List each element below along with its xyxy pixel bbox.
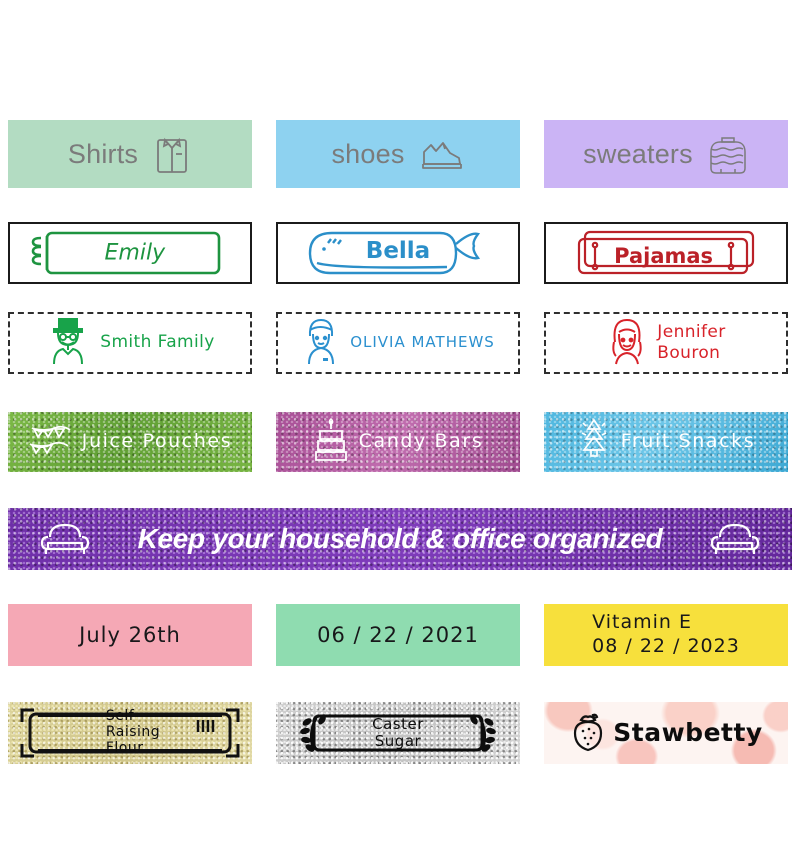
label-text: OLIVIA MATHEWS xyxy=(350,335,495,351)
row-category-labels: Shirts shoes xyxy=(0,120,800,188)
label-text: sweaters xyxy=(583,140,693,168)
label-candy-bars[interactable]: Candy Bars xyxy=(276,412,520,472)
label-text: Bella xyxy=(366,239,430,263)
label-text: Shirts xyxy=(68,140,138,168)
label-juice-pouches[interactable]: Juice Pouches xyxy=(8,412,252,472)
label-shirts[interactable]: Shirts xyxy=(8,120,252,188)
label-emily[interactable]: Emily xyxy=(8,222,252,284)
label-text: July 26th xyxy=(79,624,181,646)
label-vitamin-e[interactable]: Vitamin E 08 / 22 / 2023 xyxy=(544,604,788,666)
label-olivia-mathews[interactable]: OLIVIA MATHEWS xyxy=(276,312,520,374)
label-text: Fruit Snacks xyxy=(621,432,755,452)
sneaker-icon xyxy=(419,134,465,174)
label-fruit-snacks[interactable]: Fruit Snacks xyxy=(544,412,788,472)
label-card[interactable]: Emily xyxy=(8,222,252,284)
label-text: Juice Pouches xyxy=(82,432,232,452)
label-text: shoes xyxy=(331,140,404,168)
label-text: Jennifer Bouron xyxy=(657,322,725,365)
label-card[interactable]: Stawbetty xyxy=(544,702,788,764)
row-outline-frame-labels: Emily Bella xyxy=(0,222,800,284)
label-card[interactable]: Vitamin E 08 / 22 / 2023 xyxy=(544,604,788,666)
label-text: Smith Family xyxy=(100,334,214,352)
gentleman-tophat-icon xyxy=(45,316,91,371)
label-sheet: Shirts shoes xyxy=(0,0,800,849)
label-bella[interactable]: Bella xyxy=(276,222,520,284)
label-card[interactable]: Keep your household & office organized xyxy=(8,508,792,570)
label-card[interactable]: 06 / 22 / 2021 xyxy=(276,604,520,666)
row-glitter-labels: Juice Pouches xyxy=(0,412,800,472)
label-july-26th[interactable]: July 26th xyxy=(8,604,252,666)
label-shoes[interactable]: shoes xyxy=(276,120,520,188)
woman-headband-icon xyxy=(301,316,341,371)
label-card[interactable]: shoes xyxy=(276,120,520,188)
banner-text: Keep your household & office organized xyxy=(138,524,663,553)
sofa-icon xyxy=(38,517,92,562)
label-card[interactable]: Juice Pouches xyxy=(8,412,252,472)
label-card[interactable]: Bella xyxy=(276,222,520,284)
label-card[interactable]: Self Raising Flour xyxy=(8,702,252,764)
label-text: Pajamas xyxy=(614,245,713,267)
birthday-cake-icon xyxy=(313,417,349,468)
label-self-raising-flour[interactable]: Self Raising Flour xyxy=(8,702,252,764)
label-card[interactable]: sweaters xyxy=(544,120,788,188)
label-stawbetty[interactable]: Stawbetty xyxy=(544,702,788,764)
sofa-icon xyxy=(708,517,762,562)
label-card[interactable]: Caster Sugar xyxy=(276,702,520,764)
label-card[interactable]: Smith Family xyxy=(8,312,252,374)
row-dashed-border-labels: Smith Family OLIVIA MAT xyxy=(0,312,800,374)
label-card[interactable]: July 26th xyxy=(8,604,252,666)
banner-keep-organized[interactable]: Keep your household & office organized xyxy=(8,508,792,570)
folded-shirt-icon xyxy=(152,132,192,176)
row-decorative-frame-labels: Self Raising Flour xyxy=(0,702,800,764)
row-banner: Keep your household & office organized xyxy=(0,508,800,570)
girl-face-icon xyxy=(606,316,648,371)
label-text: Candy Bars xyxy=(359,432,484,452)
sweater-icon xyxy=(707,131,749,177)
label-pajamas[interactable]: Pajamas xyxy=(544,222,788,284)
label-card[interactable]: Fruit Snacks xyxy=(544,412,788,472)
label-card[interactable]: Shirts xyxy=(8,120,252,188)
label-text: Self Raising Flour xyxy=(106,709,160,756)
label-text: 06 / 22 / 2021 xyxy=(317,624,479,646)
label-sweaters[interactable]: sweaters xyxy=(544,120,788,188)
label-caster-sugar[interactable]: Caster Sugar xyxy=(276,702,520,764)
label-text: Vitamin E 08 / 22 / 2023 xyxy=(592,611,740,659)
strawberry-icon xyxy=(569,710,607,757)
bunting-flags-icon xyxy=(28,418,72,467)
label-text: Caster Sugar xyxy=(372,716,424,751)
label-date-06-22-2021[interactable]: 06 / 22 / 2021 xyxy=(276,604,520,666)
label-card[interactable]: Candy Bars xyxy=(276,412,520,472)
label-card[interactable]: Pajamas xyxy=(544,222,788,284)
label-text: Stawbetty xyxy=(613,720,762,746)
label-card[interactable]: Jennifer Bouron xyxy=(544,312,788,374)
christmas-tree-icon xyxy=(577,417,611,468)
label-card[interactable]: OLIVIA MATHEWS xyxy=(276,312,520,374)
label-text: Emily xyxy=(105,241,166,264)
label-jennifer-bouron[interactable]: Jennifer Bouron xyxy=(544,312,788,374)
row-date-labels: July 26th 06 / 22 / 2021 Vitamin E 08 / … xyxy=(0,604,800,666)
label-smith-family[interactable]: Smith Family xyxy=(8,312,252,374)
